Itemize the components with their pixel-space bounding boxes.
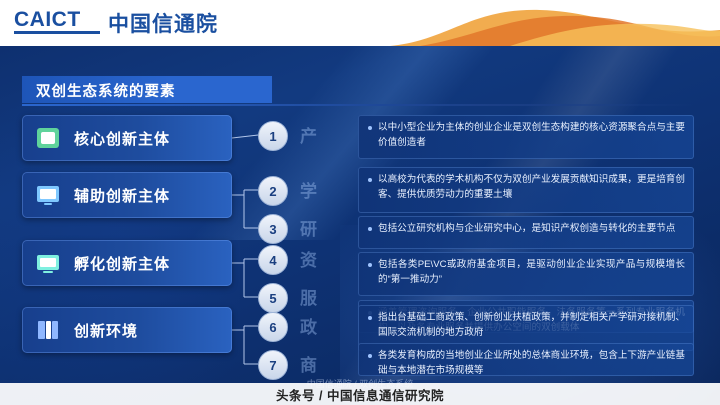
logo-underline xyxy=(14,31,100,34)
page-title: 双创生态系统的要素 xyxy=(36,80,176,101)
badge-keyword: 学 xyxy=(300,177,319,202)
badge-keyword: 资 xyxy=(300,246,319,271)
badge-number: 2 xyxy=(258,176,288,206)
header-wave-decor xyxy=(390,0,720,46)
badge-number: 5 xyxy=(258,283,288,313)
description-text: 指出台基础工商政策、创新创业扶植政策，并制定相关产学研对接机制、国际交流机制的地… xyxy=(367,311,685,340)
description-card: 各类发育构成的当地创业企业所处的总体商业环境，包含上下游产业链基础与本地潜在市场… xyxy=(358,343,694,376)
badge-number: 4 xyxy=(258,245,288,275)
badge-keyword: 政 xyxy=(300,313,319,338)
section-title-bar: 双创生态系统的要素 xyxy=(22,76,272,103)
logo-chinese-name: 中国信通院 xyxy=(108,8,218,38)
category-label: 创新环境 xyxy=(74,320,138,341)
description-text: 各类发育构成的当地创业企业所处的总体商业环境，包含上下游产业链基础与本地潜在市场… xyxy=(367,349,685,378)
category-label: 辅助创新主体 xyxy=(74,185,170,206)
badge-keyword: 服 xyxy=(300,284,319,309)
footer-bar: 头条号 / 中国信息通信研究院 xyxy=(0,383,720,405)
category-incubate[interactable]: 孵化创新主体 xyxy=(22,240,232,286)
badge-number: 3 xyxy=(258,214,288,244)
slide: CAICT 中国信通院 双创生态系统的要素 核心创新主体 xyxy=(0,0,720,405)
category-core[interactable]: 核心创新主体 xyxy=(22,115,232,161)
monitor-icon xyxy=(34,249,62,277)
logo-mark: CAICT xyxy=(14,8,81,32)
books-icon xyxy=(34,316,62,344)
category-support[interactable]: 辅助创新主体 xyxy=(22,172,232,218)
title-divider xyxy=(22,104,694,106)
footer-text: 头条号 / 中国信息通信研究院 xyxy=(276,385,444,404)
description-text: 包括各类PE\VC或政府基金项目，是驱动创业企业实现产品与规模增长的“第一推动力… xyxy=(367,258,685,287)
description-card: 以中小型企业为主体的创业企业是双创生态构建的核心资源聚合点与主要价值创造者 xyxy=(358,115,694,159)
monitor-icon xyxy=(34,124,62,152)
badge-keyword: 商 xyxy=(300,351,319,376)
badge-number: 7 xyxy=(258,350,288,380)
header-bar: CAICT 中国信通院 xyxy=(0,0,720,46)
badge-keyword: 研 xyxy=(300,215,319,240)
description-card: 以高校为代表的学术机构不仅为双创产业发展贡献知识成果，更是培育创客、提供优质劳动… xyxy=(358,167,694,213)
description-card: 包括公立研究机构与企业研究中心，是知识产权创造与转化的主要节点 xyxy=(358,216,694,249)
description-text: 以中小型企业为主体的创业企业是双创生态构建的核心资源聚合点与主要价值创造者 xyxy=(367,121,685,150)
description-text: 包括公立研究机构与企业研究中心，是知识产权创造与转化的主要节点 xyxy=(367,222,685,237)
monitor-icon xyxy=(34,181,62,209)
description-card: 包括各类PE\VC或政府基金项目，是驱动创业企业实现产品与规模增长的“第一推动力… xyxy=(358,252,694,296)
badge-number: 1 xyxy=(258,121,288,151)
category-label: 孵化创新主体 xyxy=(74,253,170,274)
description-text: 以高校为代表的学术机构不仅为双创产业发展贡献知识成果，更是培育创客、提供优质劳动… xyxy=(367,173,685,202)
category-environment[interactable]: 创新环境 xyxy=(22,307,232,353)
badge-number: 6 xyxy=(258,312,288,342)
logo: CAICT xyxy=(14,8,81,32)
badge-keyword: 产 xyxy=(300,122,319,147)
category-label: 核心创新主体 xyxy=(74,128,170,149)
